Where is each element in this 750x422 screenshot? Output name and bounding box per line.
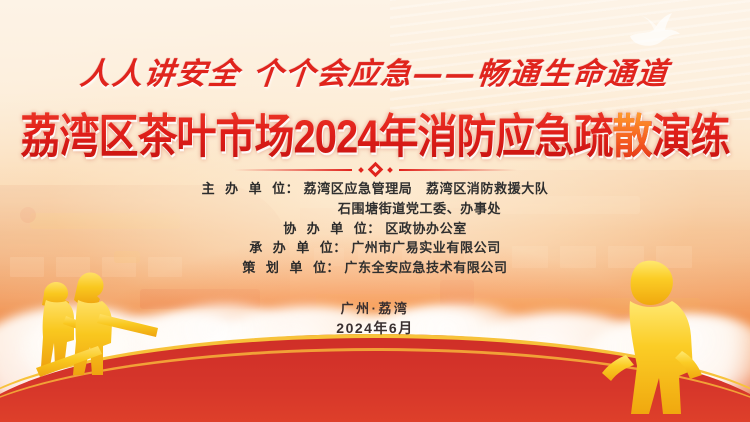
- organizer-value: 区政协办公室: [385, 219, 467, 239]
- organizer-row: 协办单位 ： 区政协办公室: [0, 219, 750, 239]
- content-layer: 人人讲安全 个个会应急——畅通生命通道 荔湾区茶叶市场2024年消防应急疏散演练…: [0, 0, 750, 422]
- organizer-value: 荔湾区应急管理局 荔湾区消防救援大队: [304, 179, 549, 199]
- organizer-colon: ：: [326, 258, 339, 278]
- organizer-row: 承办单位 ： 广州市广易实业有限公司: [0, 238, 750, 258]
- organizer-row: 策划单位 ： 广东全安应急技术有限公司: [0, 258, 750, 278]
- organizer-label: 协办单位: [283, 219, 367, 239]
- organizer-colon: ：: [367, 219, 380, 239]
- date-text: 2024年6月: [0, 318, 750, 338]
- slogan-text: 人人讲安全 个个会应急——畅通生命通道: [0, 49, 750, 93]
- organizer-label: 策划单位: [242, 258, 326, 278]
- divider-dot-left: [358, 167, 364, 173]
- place-text: 广州·荔湾: [0, 298, 750, 317]
- divider-dot-right: [387, 167, 393, 173]
- organizer-row: 石围塘街道党工委、办事处: [0, 199, 750, 219]
- organizer-list: 主办单位 ： 荔湾区应急管理局 荔湾区消防救援大队 石围塘街道党工委、办事处 协…: [0, 179, 750, 278]
- organizer-value: 广州市广易实业有限公司: [351, 238, 501, 258]
- title-highlight: 散: [612, 112, 651, 163]
- organizer-colon: ：: [333, 238, 346, 258]
- title-main: 荔湾区茶叶市场2024年消防应急疏: [21, 112, 613, 163]
- divider-diamond: [367, 162, 383, 178]
- organizer-value: 广东全安应急技术有限公司: [344, 258, 507, 278]
- organizer-row: 主办单位 ： 荔湾区应急管理局 荔湾区消防救援大队: [0, 179, 750, 199]
- organizer-colon: ：: [286, 179, 299, 199]
- organizer-value: 石围塘街道党工委、办事处: [338, 199, 501, 219]
- organizer-label: 主办单位: [202, 179, 286, 199]
- poster-canvas: 人人讲安全 个个会应急——畅通生命通道 荔湾区茶叶市场2024年消防应急疏散演练…: [0, 0, 750, 422]
- divider-line-left: [234, 169, 352, 171]
- divider-line-right: [399, 169, 517, 171]
- page-title: 荔湾区茶叶市场2024年消防应急疏散演练: [0, 99, 750, 166]
- title-tail: 演练: [651, 112, 729, 163]
- organizer-label: 承办单位: [249, 238, 333, 258]
- divider-ornament: [0, 164, 750, 175]
